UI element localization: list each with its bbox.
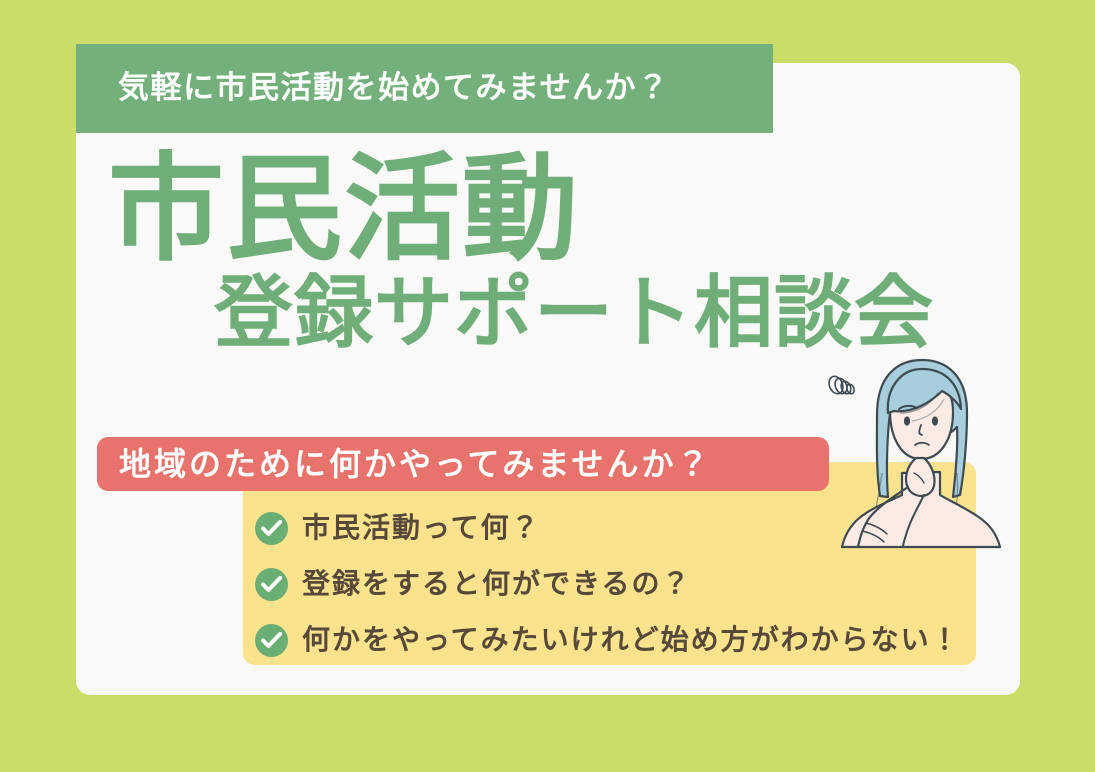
- list-item: 市民活動って何？: [255, 500, 995, 556]
- headline-line-1: 市民活動: [108, 152, 968, 268]
- sub-red-banner: 地域のために何かやってみませんか？: [97, 437, 829, 491]
- check-circle-icon: [255, 568, 288, 601]
- list-item: 何かをやってみたいけれど始め方がわからない！: [255, 612, 995, 668]
- poster-canvas: 気軽に市民活動を始めてみませんか？ 市民活動 登録サポート相談会: [0, 0, 1095, 772]
- check-circle-icon: [255, 624, 288, 657]
- headline-line-2: 登録サポート相談会: [108, 274, 968, 353]
- list-item-label: 登録をすると何ができるの？: [302, 570, 691, 598]
- thought-scribble-icon: [827, 374, 856, 396]
- top-banner-text: 気軽に市民活動を始めてみませんか？: [118, 73, 670, 104]
- page-title: 市民活動 登録サポート相談会: [108, 152, 968, 353]
- sub-banner-text: 地域のために何かやってみませんか？: [119, 448, 711, 480]
- list-item: 登録をすると何ができるの？: [255, 556, 995, 612]
- list-item-label: 市民活動って何？: [302, 514, 541, 542]
- check-circle-icon: [255, 512, 288, 545]
- top-green-banner: 気軽に市民活動を始めてみませんか？: [76, 44, 773, 133]
- question-check-list: 市民活動って何？ 登録をすると何ができるの？ 何かをやってみたいけれど始め方がわ…: [255, 500, 995, 668]
- list-item-label: 何かをやってみたいけれど始め方がわからない！: [302, 626, 961, 654]
